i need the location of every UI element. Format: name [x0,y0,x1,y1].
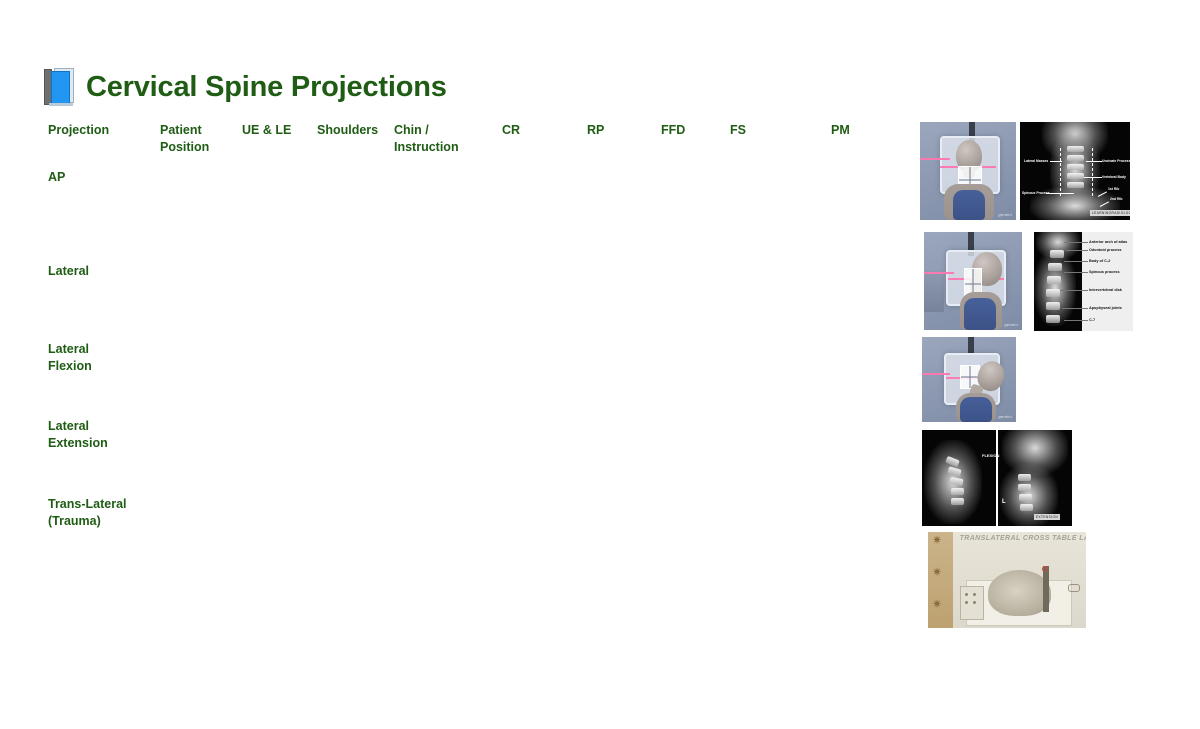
xray-leader-spinous-process [1046,193,1074,194]
trans-lateral-cross-table-photo[interactable]: ✷ ✷ ✷ TRANSLATERAL CROSS TABLE LATERAL [928,532,1086,628]
column-header-cr: CR [502,122,520,139]
flexion-extension-film: FLEXION L EXTENSION [922,430,1072,526]
xray-leader-uncinate-process [1086,161,1102,162]
leader-odontoid-process [1066,250,1088,251]
star-decoration-icon: ✷ [932,598,942,610]
xray-vertebra-c3 [1048,263,1062,271]
leader-anterior-arch-of-atlas [1064,242,1088,243]
flexion-positioning-scene: gemini [922,337,1016,422]
leader-c7 [1064,320,1088,321]
image-watermark: gemini [998,212,1012,217]
projections-table: Projection Patient Position UE & LE Shou… [0,0,1200,729]
xray-flexion-vertebra-5 [951,498,964,505]
ap-cervical-spine-xray[interactable]: Lateral Masses Spinous Process Uncinate … [1020,122,1130,220]
column-header-ffd: FFD [661,122,685,139]
label-c7: C-7 [1089,318,1095,322]
xray-extension-vertebra-3 [1019,494,1032,501]
column-header-patient-position: Patient Position [160,122,209,156]
console-knob [965,593,968,596]
label-intervertebral-disk: Intervertebral disk [1089,288,1122,292]
xray-label-second-rib: 2nd Rib [1110,197,1122,201]
lateral-xray-panel: Anterior arch of atlas Odontoid process … [1034,232,1133,331]
lateral-xray-image [1034,232,1082,331]
collimation-cross-horizontal [965,283,981,285]
laser-line-horizontal [920,158,950,160]
alignment-marker-icon [1042,566,1048,572]
xray-vertebra-c3 [1067,146,1084,152]
image-watermark: gemini [998,414,1012,419]
lateral-positioning-scene: gemini [924,232,1022,330]
leader-apophyseal-joints [1062,308,1088,309]
xray-label-spinous-process: Spinous Process [1022,191,1050,195]
xray-label-lateral-masses: Lateral Masses [1024,159,1048,163]
ap-xray-film: Lateral Masses Spinous Process Uncinate … [1020,122,1130,220]
ap-positioning-scene: gemini [920,122,1016,220]
lateral-flexion-positioning-illustration[interactable]: gemini [922,337,1016,422]
xray-leader-vertebral-body [1084,177,1102,178]
label-spinous-process: Spinous process [1089,270,1120,274]
lateral-positioning-illustration[interactable]: gemini [924,232,1022,330]
column-header-pm: PM [831,122,850,139]
ap-positioning-illustration[interactable]: gemini [920,122,1016,220]
xray-dashed-line-right [1092,148,1093,196]
lateral-xray-film [1034,232,1082,331]
xray-divider [996,430,998,526]
xray-side-marker: L [1002,500,1006,504]
row-label-lateral-flexion: Lateral Flexion [48,341,92,375]
photo-caption: TRANSLATERAL CROSS TABLE LATERAL [960,535,1086,542]
column-header-chin-instruction: Chin / Instruction [394,122,459,156]
column-header-shoulders: Shoulders [317,122,378,139]
xray-extension-vertebra-2 [1018,484,1031,491]
column-header-rp: RP [587,122,604,139]
xray-dashed-line-left [1060,148,1061,196]
supine-patient [988,570,1051,616]
xray-label-vertebral-body: Vertebral Body [1102,175,1126,179]
xray-marker-extension: EXTENSION [1034,514,1060,520]
xray-vertebra-c7 [1067,182,1084,188]
console-knob [973,593,976,596]
column-header-ue-le: UE & LE [242,122,291,139]
xray-extension-vertebra-1 [1018,474,1031,481]
row-label-lateral-extension: Lateral Extension [48,418,108,452]
patient-gown [953,190,985,220]
label-apophyseal-joints: Apophyseal joints [1089,306,1122,310]
row-label-trans-lateral-trauma: Trans-Lateral (Trauma) [48,496,127,530]
collimation-cross-horizontal [959,179,981,181]
row-label-ap: AP [48,169,65,186]
column-header-projection: Projection [48,122,109,139]
image-watermark: gemini [1004,322,1018,327]
image-receptor-cassette [1043,566,1049,612]
xray-label-first-rib: 1st Rib [1108,187,1119,191]
x-ray-tube-indicator [1068,584,1080,592]
leader-intervertebral-disk [1060,290,1088,291]
label-odontoid-process: Odontoid process [1089,248,1122,252]
flexion-extension-lateral-xrays[interactable]: FLEXION L EXTENSION [922,430,1072,526]
lateral-cervical-spine-xray[interactable]: Anterior arch of atlas Odontoid process … [1034,232,1133,331]
star-decoration-icon: ✷ [932,534,942,546]
laser-line-horizontal [924,272,954,274]
label-body-of-c2: Body of C-2 [1089,259,1110,263]
trauma-photo-scene: ✷ ✷ ✷ TRANSLATERAL CROSS TABLE LATERAL [928,532,1086,628]
column-header-fs: FS [730,122,746,139]
leader-spinous-process [1064,272,1088,273]
patient-gown [964,298,996,330]
leader-body-of-c2 [1064,261,1088,262]
console-knob [973,601,976,604]
xray-vertebra-c6 [1067,173,1084,179]
patient-gown [960,397,992,422]
xray-vertebra-c4 [1047,276,1061,284]
xray-extension-vertebra-4 [1020,504,1033,511]
xray-leader-lateral-masses [1050,161,1062,162]
row-label-lateral: Lateral [48,263,89,280]
xray-vertebra-c2 [1050,250,1064,258]
xray-source-tag: LEARNINGRADIOLOGY [1090,210,1130,216]
xray-vertebra-c5 [1067,164,1084,170]
xray-vertebra-c4 [1067,155,1084,161]
xray-vertebra-c7 [1046,315,1060,323]
xray-flexion-vertebra-4 [951,488,964,495]
xray-label-uncinate-process: Uncinate Process [1102,159,1130,163]
xray-vertebra-c5 [1046,289,1060,297]
support-box [924,270,944,312]
star-decoration-icon: ✷ [932,566,942,578]
xray-vertebra-c6 [1046,302,1060,310]
laser-line-horizontal [922,373,950,375]
control-console [960,586,984,620]
label-anterior-arch-of-atlas: Anterior arch of atlas [1089,240,1127,244]
console-knob [965,601,968,604]
